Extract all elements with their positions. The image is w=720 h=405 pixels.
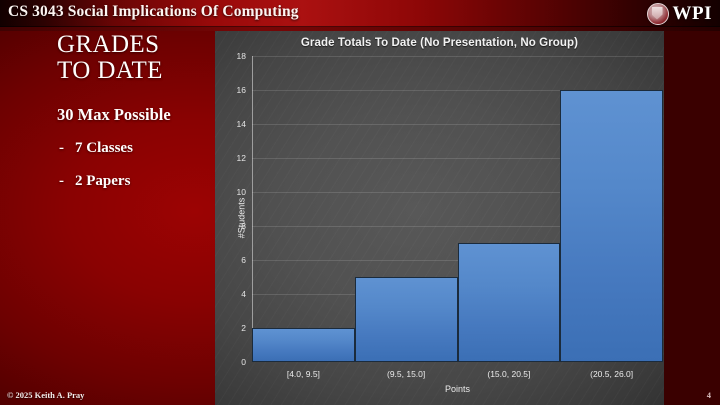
gridline <box>252 56 663 57</box>
wpi-seal-icon <box>647 3 669 25</box>
chart-bar <box>355 277 458 362</box>
x-axis-title: Points <box>252 384 663 394</box>
chart-bar <box>252 328 355 362</box>
slide-subheading: 30 Max Possible <box>57 105 171 125</box>
footer-copyright: © 2025 Keith A. Pray <box>7 390 84 400</box>
bullet-marker: - <box>59 173 75 190</box>
chart-title: Grade Totals To Date (No Presentation, N… <box>215 37 664 49</box>
slide-heading-line2: TO DATE <box>57 58 163 84</box>
y-axis-title: #Students <box>236 198 246 239</box>
y-tick-label: 10 <box>237 187 246 197</box>
chart-bar <box>458 243 561 362</box>
slide-left-column: GRADES TO DATE 30 Max Possible -7 Classe… <box>0 27 215 385</box>
y-tick-label: 4 <box>241 289 246 299</box>
x-tick-label: (15.0, 20.5] <box>487 369 530 379</box>
y-tick-label: 6 <box>241 255 246 265</box>
footer-page-number: 4 <box>707 390 711 400</box>
y-tick-label: 2 <box>241 323 246 333</box>
slide-heading: GRADES TO DATE <box>57 32 163 84</box>
y-tick-label: 8 <box>241 221 246 231</box>
wpi-logo: WPI <box>647 1 713 26</box>
list-item: -2 Papers <box>59 173 130 190</box>
chart-bar <box>560 90 663 362</box>
slide-canvas: CS 3043 Social Implications Of Computing… <box>0 0 720 405</box>
page-title: CS 3043 Social Implications Of Computing <box>8 3 299 21</box>
y-tick-label: 14 <box>237 119 246 129</box>
y-tick-label: 0 <box>241 357 246 367</box>
x-tick-label: (9.5, 15.0] <box>387 369 425 379</box>
x-tick-label: (20.5, 26.0] <box>590 369 633 379</box>
y-tick-label: 18 <box>237 51 246 61</box>
list-item: -7 Classes <box>59 140 133 157</box>
chart-panel: Grade Totals To Date (No Presentation, N… <box>215 31 664 405</box>
bullet-label: 7 Classes <box>75 140 133 156</box>
y-tick-label: 16 <box>237 85 246 95</box>
bullet-marker: - <box>59 140 75 157</box>
y-tick-label: 12 <box>237 153 246 163</box>
wpi-wordmark: WPI <box>673 3 713 25</box>
chart-plot-area: 024681012141618 [4.0, 9.5](9.5, 15.0](15… <box>252 56 663 362</box>
x-tick-label: [4.0, 9.5] <box>287 369 320 379</box>
slide-heading-line1: GRADES <box>57 31 159 58</box>
bullet-label: 2 Papers <box>75 173 130 189</box>
slide-title-bar: CS 3043 Social Implications Of Computing… <box>0 0 720 27</box>
